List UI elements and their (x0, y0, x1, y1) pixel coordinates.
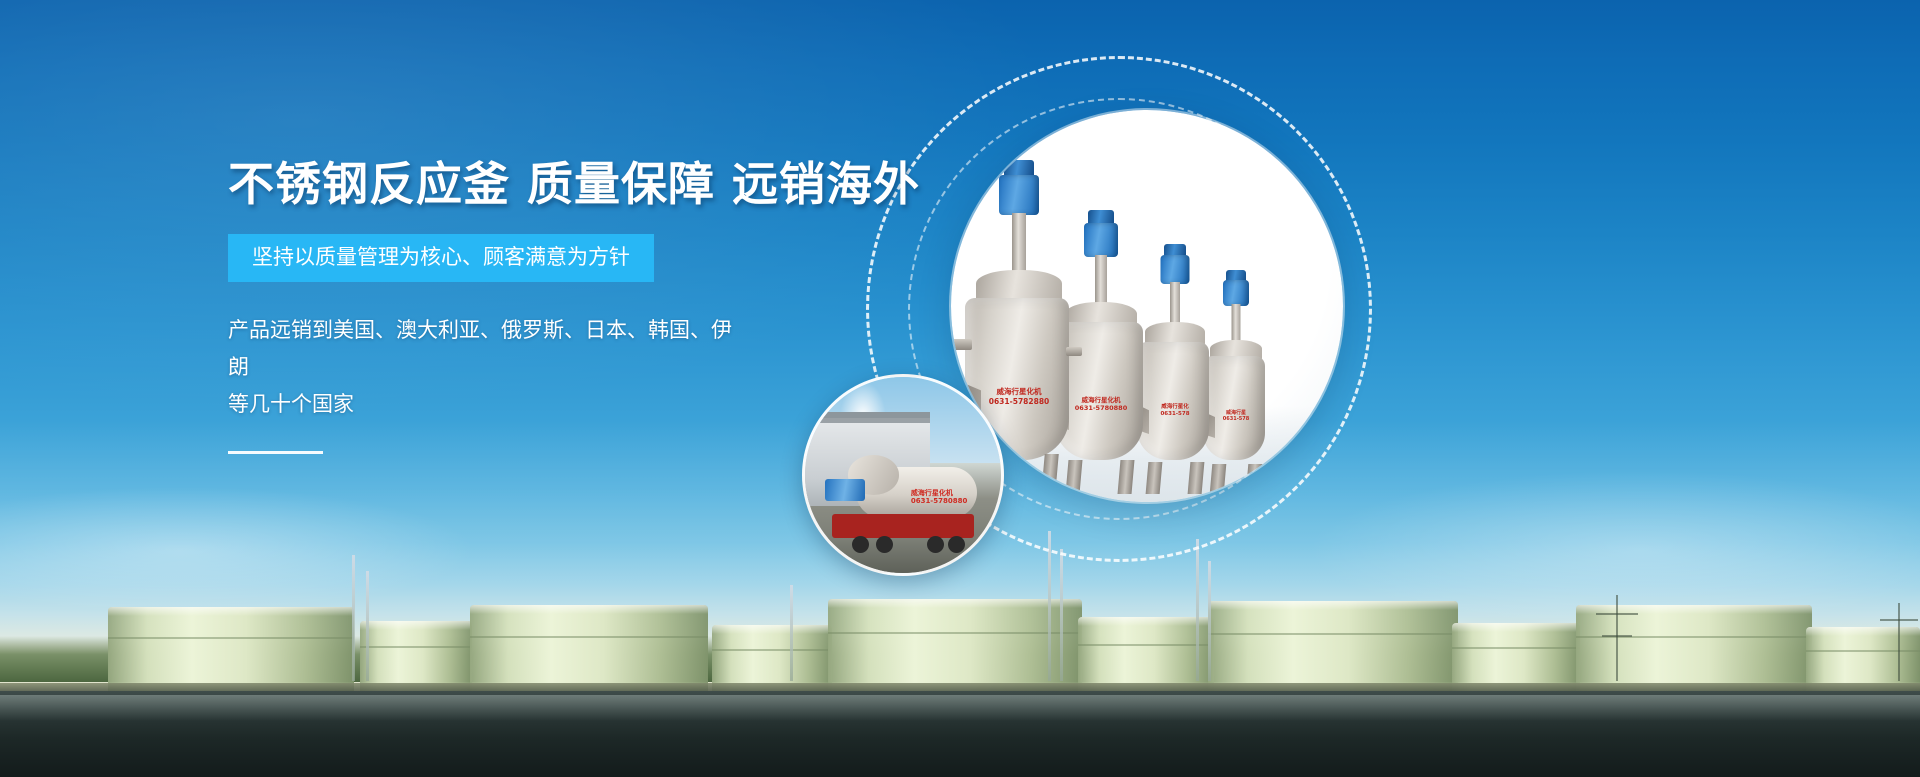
vessel-leg (1246, 464, 1263, 494)
product-photo-circle: 威海行星 0631-578 威海行星化 0631-578 (951, 110, 1343, 502)
inset-agitator-motor-icon (825, 479, 865, 501)
inset-label-line1: 威海行星化机 (911, 489, 953, 497)
vessel-label-line2: 0631-578 (1223, 416, 1249, 422)
vessel-label-line1: 威海行星化机 (997, 387, 1042, 396)
inset-label-line2: 0631-5780880 (911, 497, 967, 505)
agitator-motor-icon (1161, 255, 1190, 284)
vessel-leg (1188, 462, 1205, 494)
vessel-leg (1066, 460, 1083, 494)
vessel-leg (1210, 464, 1227, 494)
reactor-vessel: 威海行星化 0631-578 (1137, 244, 1213, 460)
banner-headline: 不锈钢反应釜 质量保障 远销海外 (228, 160, 868, 208)
vessel-label-line1: 威海行星化 (1161, 404, 1189, 410)
inset-brand-label: 威海行星化机 0631-5780880 (911, 489, 967, 506)
vessel-brand-label: 威海行星 0631-578 (1223, 410, 1249, 423)
agitator-motor-icon (1084, 223, 1118, 257)
agitator-shaft-icon (1170, 282, 1180, 326)
banner-body-line1: 产品远销到美国、澳大利亚、俄罗斯、日本、韩国、伊朗 (228, 318, 732, 379)
power-pylon (1880, 603, 1918, 681)
inset-transport-trailer (832, 514, 973, 538)
vessel-label-line1: 威海行星化机 (1081, 396, 1120, 404)
inset-wheel (948, 536, 965, 553)
agitator-motor-icon (999, 175, 1039, 215)
inset-wheel (927, 536, 944, 553)
water-reflection (0, 695, 1920, 721)
vessel-label-line2: 0631-578 (1160, 411, 1189, 417)
storage-tank (470, 605, 708, 695)
vessel-body (1137, 342, 1209, 460)
antenna-tower (352, 555, 355, 681)
banner-copy-block: 不锈钢反应釜 质量保障 远销海外 坚持以质量管理为核心、顾客满意为方针 产品远销… (228, 160, 868, 454)
antenna-tower (1060, 549, 1063, 681)
agitator-shaft-icon (1095, 255, 1107, 307)
vessel-nozzle (952, 339, 972, 350)
accent-rule (228, 451, 323, 454)
inset-wheel (852, 536, 869, 553)
water-surface (0, 691, 1920, 777)
agitator-shaft-icon (1232, 304, 1241, 344)
vessel-brand-label: 威海行星化 0631-578 (1160, 404, 1189, 418)
antenna-tower (366, 571, 369, 681)
agitator-motor-icon (1223, 280, 1249, 306)
storage-tank (828, 599, 1082, 695)
antenna-tower (790, 585, 793, 681)
agitator-shaft-icon (1012, 213, 1026, 275)
power-pylon (1596, 595, 1638, 681)
antenna-tower (1048, 531, 1051, 681)
hero-banner: 威海行星 0631-578 威海行星化 0631-578 (0, 0, 1920, 777)
vessel-brand-label: 威海行星化机 0631-5780880 (1075, 396, 1127, 412)
storage-tank (108, 607, 354, 695)
inset-ground (805, 538, 1001, 573)
vessel-label-line1: 威海行星 (1226, 410, 1246, 416)
banner-body-text: 产品远销到美国、澳大利亚、俄罗斯、日本、韩国、伊朗 等几十个国家 (228, 312, 748, 422)
banner-highlight-bar: 坚持以质量管理为核心、顾客满意为方针 (228, 234, 654, 282)
inset-wheel (876, 536, 893, 553)
antenna-tower (1196, 539, 1199, 681)
banner-body-line2: 等几十个国家 (228, 392, 354, 416)
antenna-tower (1208, 561, 1211, 681)
storage-tank (1208, 601, 1458, 695)
vessel-nozzle (1066, 347, 1082, 356)
vessel-leg (1118, 460, 1135, 494)
vessel-leg (1146, 462, 1163, 494)
vessel-label-line2: 0631-5780880 (1075, 404, 1127, 412)
